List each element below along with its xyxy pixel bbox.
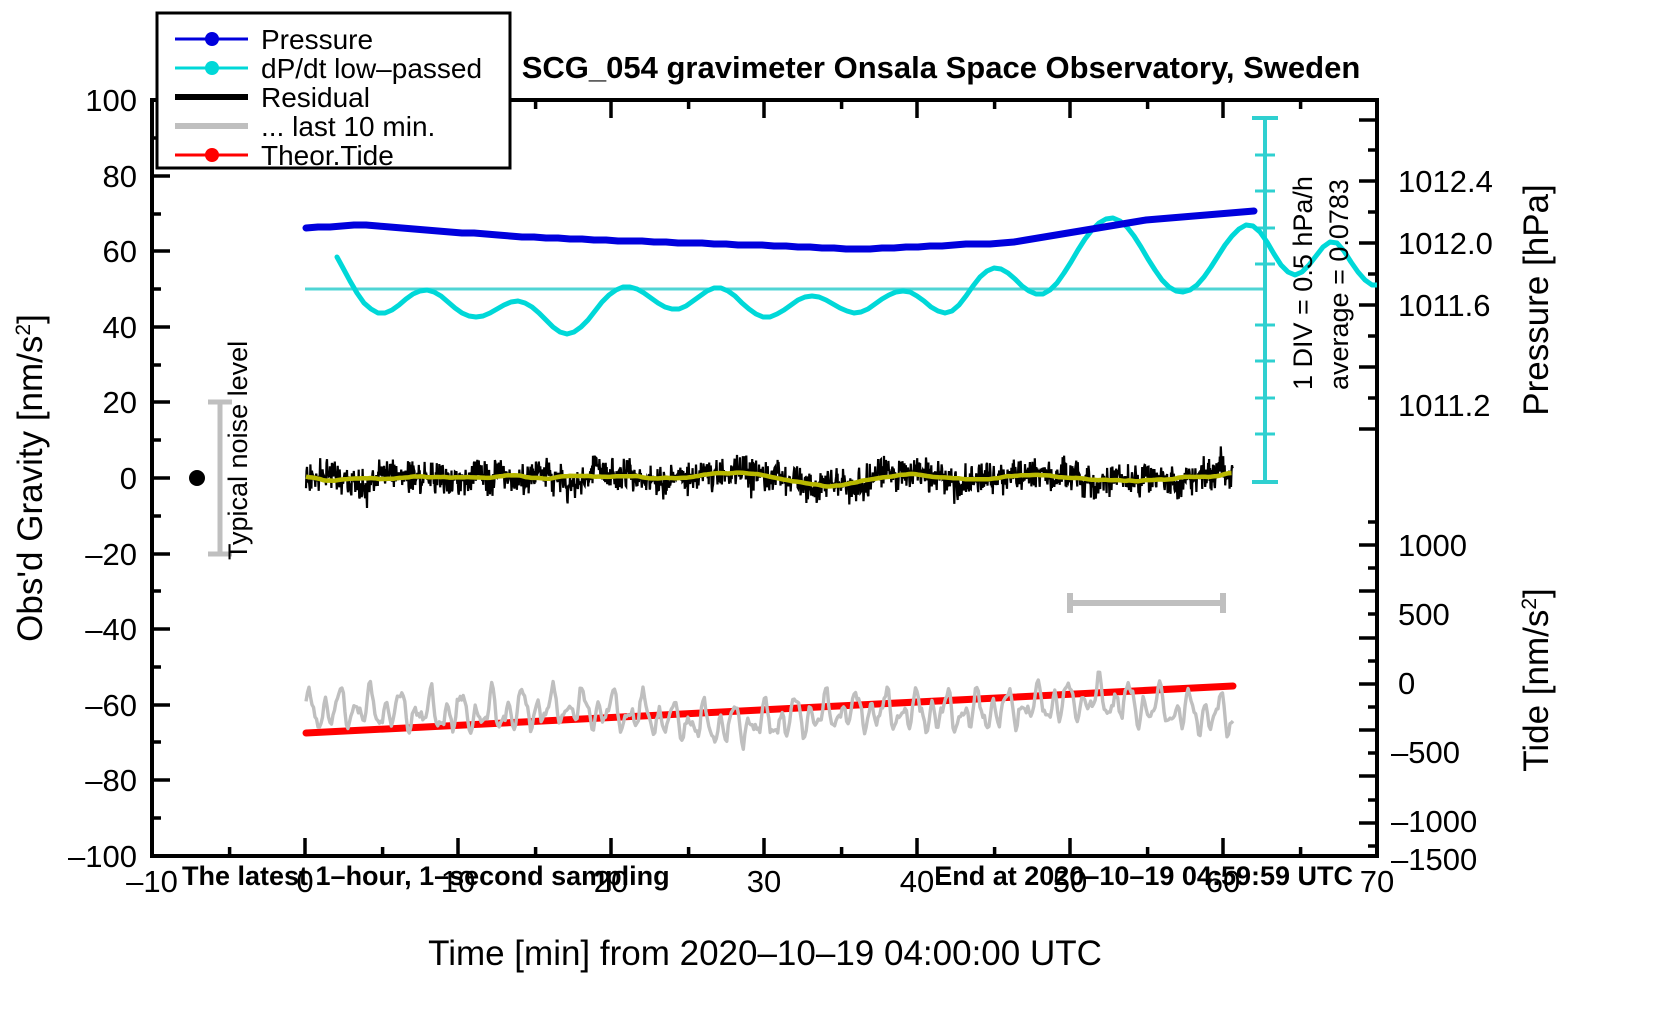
y-axis-left-title: Obs'd Gravity [nm/s2]: [11, 314, 50, 642]
ytick-label-tide: 0: [1398, 666, 1415, 701]
div-scale-label: 1 DIV = 0.5 hPa/h: [1288, 176, 1318, 390]
ytick-label-tide: 500: [1398, 597, 1450, 632]
bottom-left-note: The latest 1–hour, 1–second sampling: [182, 861, 670, 891]
ytick-label-left: –40: [85, 612, 137, 647]
ytick-label-left: 40: [103, 310, 137, 345]
y-axis-right-ticks: [1359, 120, 1377, 846]
chart-title: SCG_054 gravimeter Onsala Space Observat…: [522, 50, 1361, 85]
ytick-label-left: 20: [103, 385, 137, 420]
typical-noise-level-label: Typical noise level: [223, 341, 253, 560]
legend-label: Pressure: [261, 24, 373, 55]
x-axis-title: Time [min] from 2020–10–19 04:00:00 UTC: [428, 934, 1102, 973]
legend-label: Theor.Tide: [261, 140, 394, 171]
bottom-right-note: End at 2020–10–19 04:59:59 UTC: [934, 861, 1353, 891]
ytick-label-left: 60: [103, 234, 137, 269]
legend: Pressure dP/dt low–passed Residual ... l…: [157, 13, 510, 171]
xtick-label: 70: [1360, 864, 1394, 899]
gravimeter-plot: –10 0 10 20 30 40 50 60 70 –100 –80: [0, 0, 1660, 1020]
ytick-label-tide: –1000: [1391, 804, 1477, 839]
ytick-label-pressure: 1011.2: [1398, 388, 1491, 423]
ytick-label-tide: –1500: [1391, 842, 1477, 877]
y-axis-left-ticks: [152, 100, 170, 856]
ytick-label-pressure: 1012.0: [1398, 226, 1493, 261]
ytick-label-tide: –500: [1391, 735, 1460, 770]
ytick-label-pressure: 1011.6: [1398, 288, 1491, 323]
legend-label: Residual: [261, 82, 370, 113]
dpdt-scale-axis: [1252, 118, 1278, 482]
last10-scale-bar: [1070, 593, 1223, 613]
xtick-label: 40: [900, 864, 934, 899]
ytick-label-left: –20: [85, 537, 137, 572]
y-axis-right-pressure-labels: 1012.4 1012.0 1011.6 1011.2: [1398, 164, 1493, 423]
y-axis-right-tide-title: Tide [nm/s2]: [1517, 588, 1556, 772]
ytick-label-left: –60: [85, 688, 137, 723]
ytick-label-left: 100: [85, 83, 137, 118]
xtick-label: 30: [747, 864, 781, 899]
ytick-label-left: 80: [103, 159, 137, 194]
y-axis-right-tide-labels: 1000 500 0 –500 –1000 –1500: [1391, 528, 1477, 877]
ytick-label-left: –80: [85, 763, 137, 798]
average-label: average = 0.0783: [1324, 179, 1354, 390]
y-axis-left-tick-labels: –100 –80 –60 –40 –20 0 20 40 60 80 100: [68, 83, 137, 874]
ytick-label-pressure: 1012.4: [1398, 164, 1493, 199]
ytick-label-left: –100: [68, 839, 137, 874]
ytick-label-left: 0: [120, 461, 137, 496]
y-axis-right-pressure-title: Pressure [hPa]: [1517, 184, 1556, 416]
chart-canvas: –10 0 10 20 30 40 50 60 70 –100 –80: [0, 0, 1660, 1020]
ytick-label-tide: 1000: [1398, 528, 1467, 563]
legend-label: ... last 10 min.: [261, 111, 435, 142]
legend-label: dP/dt low–passed: [261, 53, 482, 84]
